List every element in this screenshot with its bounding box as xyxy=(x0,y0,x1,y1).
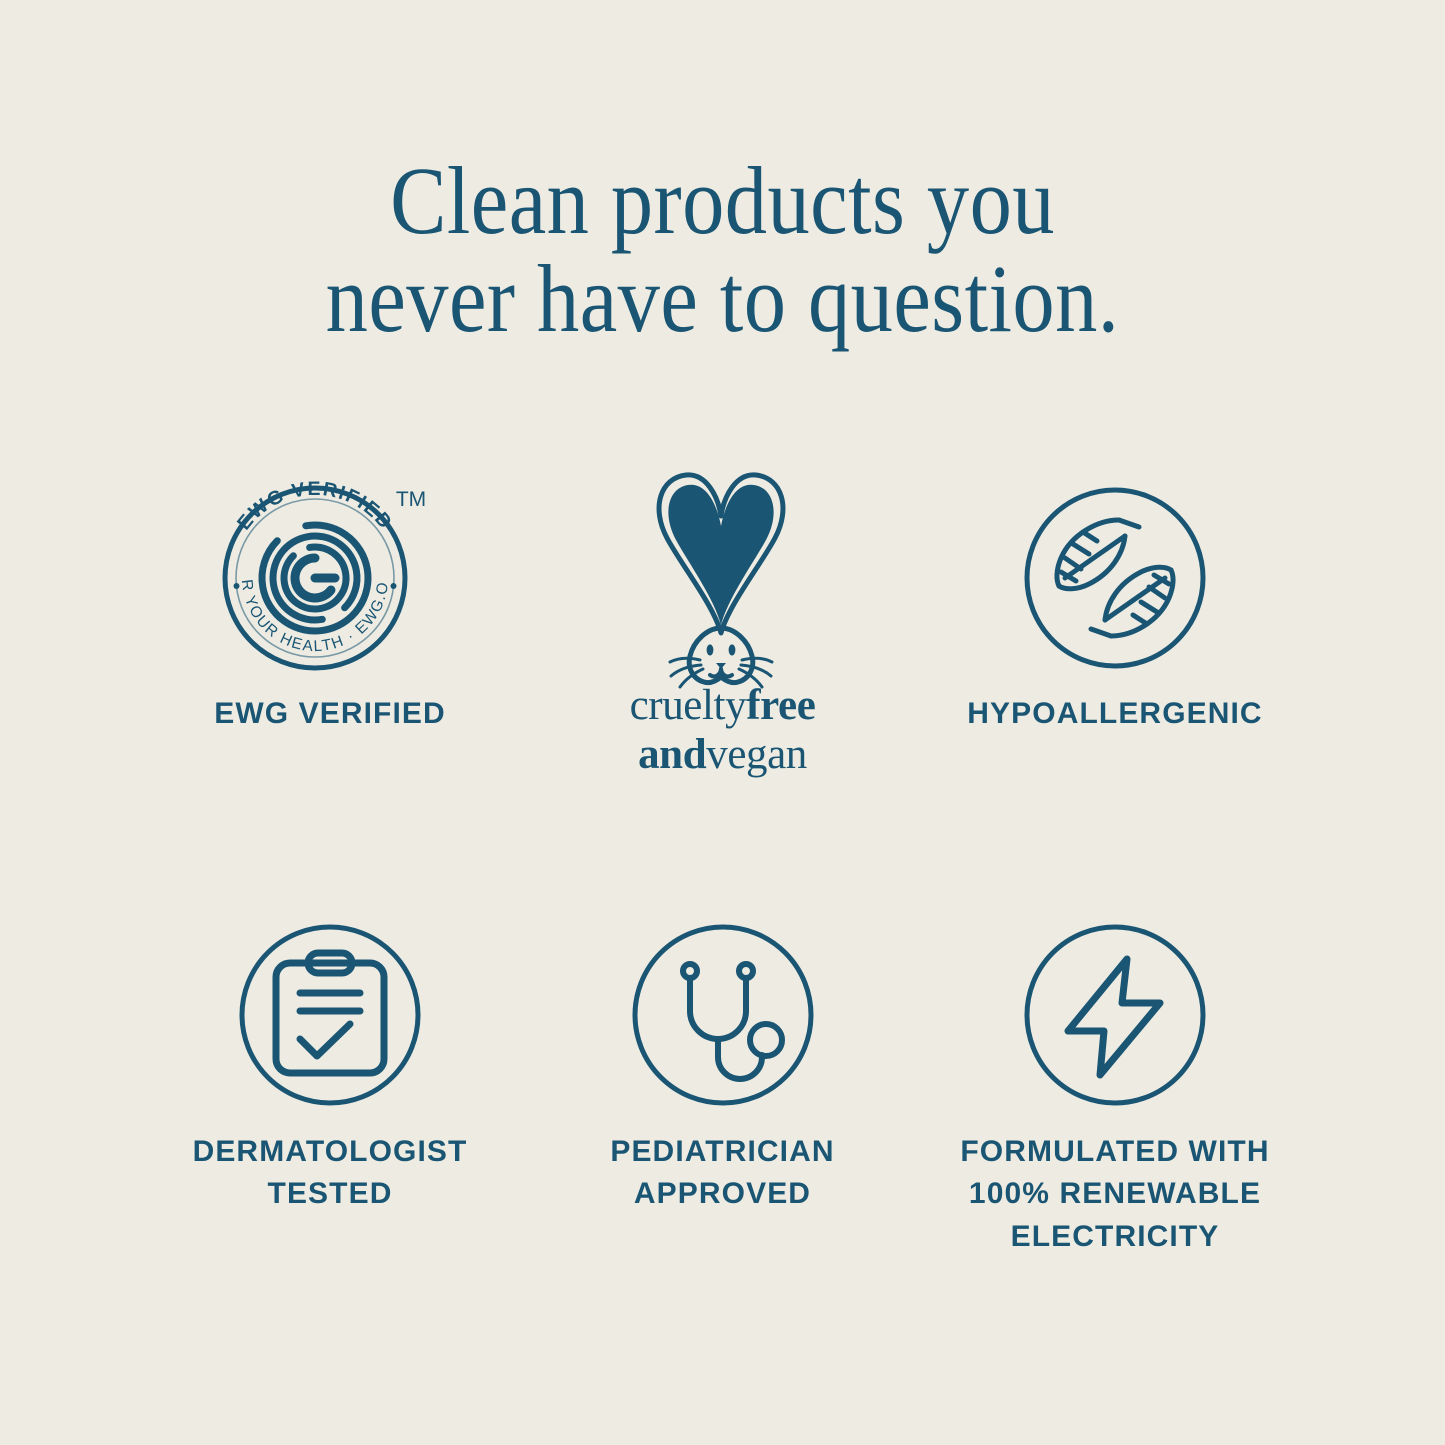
badge-label-dermatologist-tested: DERMATOLOGIST TESTED xyxy=(193,1131,468,1216)
wordmark-cruelty: cruelty xyxy=(630,682,747,729)
feathers-circle-icon xyxy=(1015,470,1215,685)
page-title: Clean products you never have to questio… xyxy=(87,152,1359,348)
wordmark-and: and xyxy=(638,731,706,778)
badge-ewg-verified: EWG VERIFIED FOR YOUR HEALTH · EWG.ORG xyxy=(135,470,525,736)
badge-pediatrician-approved: PEDIATRICIAN APPROVED xyxy=(528,908,918,1216)
badge-row-bottom: DERMATOLOGIST TESTED xyxy=(135,908,1310,1259)
badge-label-renewable-electricity: FORMULATED WITH 100% RENEWABLE ELECTRICI… xyxy=(935,1131,1295,1259)
cruelty-free-wordmark: crueltyfree andvegan xyxy=(630,681,816,780)
badge-hypoallergenic: HYPOALLERGENIC xyxy=(920,470,1310,736)
trademark-symbol: TM xyxy=(396,488,426,511)
ewg-verified-seal-icon: EWG VERIFIED FOR YOUR HEALTH · EWG.ORG xyxy=(215,470,445,685)
cruelty-free-bunny-icon xyxy=(618,470,828,685)
wordmark-free: free xyxy=(746,682,815,729)
stethoscope-circle-icon xyxy=(623,908,823,1123)
cruelty-free-wordmark-line-2: andvegan xyxy=(630,730,816,779)
page-title-line-1: Clean products you xyxy=(87,152,1359,250)
badge-cruelty-free-vegan: crueltyfree andvegan xyxy=(528,470,918,780)
badge-grid: EWG VERIFIED FOR YOUR HEALTH · EWG.ORG xyxy=(135,470,1310,1259)
badge-renewable-electricity: FORMULATED WITH 100% RENEWABLE ELECTRICI… xyxy=(920,908,1310,1259)
clean-products-badges-page: Clean products you never have to questio… xyxy=(0,0,1445,1445)
badge-dermatologist-tested: DERMATOLOGIST TESTED xyxy=(135,908,525,1216)
badge-row-top: EWG VERIFIED FOR YOUR HEALTH · EWG.ORG xyxy=(135,470,1310,780)
badge-label-ewg-verified: EWG VERIFIED xyxy=(214,693,446,736)
page-title-line-2: never have to question. xyxy=(87,250,1359,348)
lightning-bolt-circle-icon xyxy=(1015,908,1215,1123)
badge-label-hypoallergenic: HYPOALLERGENIC xyxy=(967,693,1262,736)
clipboard-check-circle-icon xyxy=(230,908,430,1123)
cruelty-free-wordmark-line-1: crueltyfree xyxy=(630,681,816,730)
badge-label-pediatrician-approved: PEDIATRICIAN APPROVED xyxy=(610,1131,834,1216)
wordmark-vegan: vegan xyxy=(706,731,807,778)
